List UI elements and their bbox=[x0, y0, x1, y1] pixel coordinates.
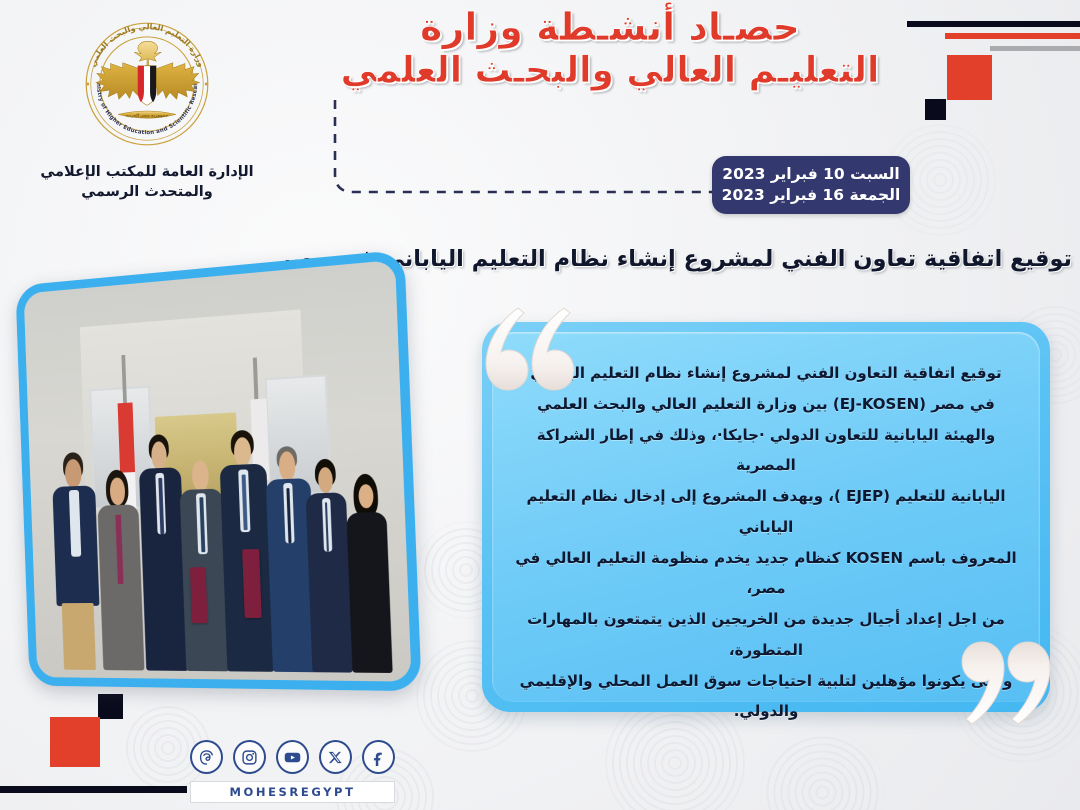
person-figure bbox=[95, 465, 145, 671]
title-line-2: التعليـم العالي والبحـث العلمي bbox=[310, 51, 910, 91]
deco-bar-red-top bbox=[945, 33, 1080, 39]
instagram-icon[interactable] bbox=[233, 740, 266, 774]
deco-square-navy-top bbox=[925, 99, 946, 120]
social-footer: MOHESREGYPT bbox=[190, 740, 395, 803]
social-icon-row bbox=[190, 740, 395, 774]
x-twitter-icon[interactable] bbox=[319, 740, 352, 774]
date-to: الجمعة 16 فبراير 2023 bbox=[722, 185, 901, 206]
date-from: السبت 10 فبراير 2023 bbox=[722, 164, 899, 185]
deco-bar-gray-top bbox=[990, 46, 1080, 51]
facebook-icon[interactable] bbox=[362, 740, 395, 774]
title-line-1: حصـاد أنشـطة وزارة bbox=[310, 6, 910, 49]
quote-line: والهيئة اليابانية للتعاون الدولي ·جايكا·… bbox=[508, 420, 1024, 482]
quote-line: توقيع اتفاقية التعاون الفني لمشروع إنشاء… bbox=[508, 358, 1024, 389]
social-handle: MOHESREGYPT bbox=[190, 781, 395, 803]
logo-caption: الإدارة العامة للمكتب الإعلامي والمتحدث … bbox=[18, 162, 276, 202]
event-photo bbox=[24, 260, 412, 682]
egypt-eagle-emblem: وزارة التعليم العالي والبحث العلمي Minis… bbox=[71, 8, 223, 160]
poster-canvas: وزارة التعليم العالي والبحث العلمي Minis… bbox=[0, 0, 1080, 810]
quote-line: في مصر (EJ-KOSEN) بين وزارة التعليم العا… bbox=[508, 389, 1024, 420]
watermark-ring bbox=[760, 730, 885, 810]
quote-line: اليابانية للتعليم (EJEP )، ويهدف المشروع… bbox=[508, 481, 1024, 543]
logo-caption-line1: الإدارة العامة للمكتب الإعلامي bbox=[18, 162, 276, 182]
dashed-connector bbox=[332, 100, 732, 196]
person-figure bbox=[343, 471, 395, 673]
threads-icon[interactable] bbox=[190, 740, 223, 774]
deco-square-red-bottom bbox=[50, 717, 100, 767]
ministry-logo-block: وزارة التعليم العالي والبحث العلمي Minis… bbox=[18, 8, 276, 202]
deco-square-black-bottom bbox=[98, 694, 123, 719]
news-subheadline: توقيع اتفاقية تعاون الفني لمشروع إنشاء ن… bbox=[642, 246, 1072, 272]
date-range-badge: السبت 10 فبراير 2023 الجمعة 16 فبراير 20… bbox=[712, 156, 910, 214]
quote-line: وحتى يكونوا مؤهلين لتلبية احتياجات سوق ا… bbox=[508, 666, 1024, 728]
event-photo-frame bbox=[15, 250, 421, 692]
svg-text:جمهورية مصر العربية: جمهورية مصر العربية bbox=[126, 113, 169, 118]
poster-title: حصـاد أنشـطة وزارة التعليـم العالي والبح… bbox=[310, 6, 910, 91]
deco-bar-navy-top bbox=[907, 21, 1080, 27]
deco-square-red-top bbox=[947, 55, 992, 100]
event-photo-card bbox=[8, 268, 408, 688]
logo-caption-line2: والمتحدث الرسمي bbox=[18, 182, 276, 202]
quote-line: من اجل إعداد أجيال جديدة من الخريجين الذ… bbox=[508, 604, 1024, 666]
quote-text: توقيع اتفاقية التعاون الفني لمشروع إنشاء… bbox=[508, 358, 1024, 727]
person-figure bbox=[50, 447, 103, 670]
deco-bar-navy-bottom bbox=[0, 786, 187, 793]
youtube-icon[interactable] bbox=[276, 740, 309, 774]
quote-line: المعروف باسم KOSEN كنظام جديد يخدم منظوم… bbox=[508, 543, 1024, 605]
quote-card: توقيع اتفاقية التعاون الفني لمشروع إنشاء… bbox=[482, 322, 1050, 712]
